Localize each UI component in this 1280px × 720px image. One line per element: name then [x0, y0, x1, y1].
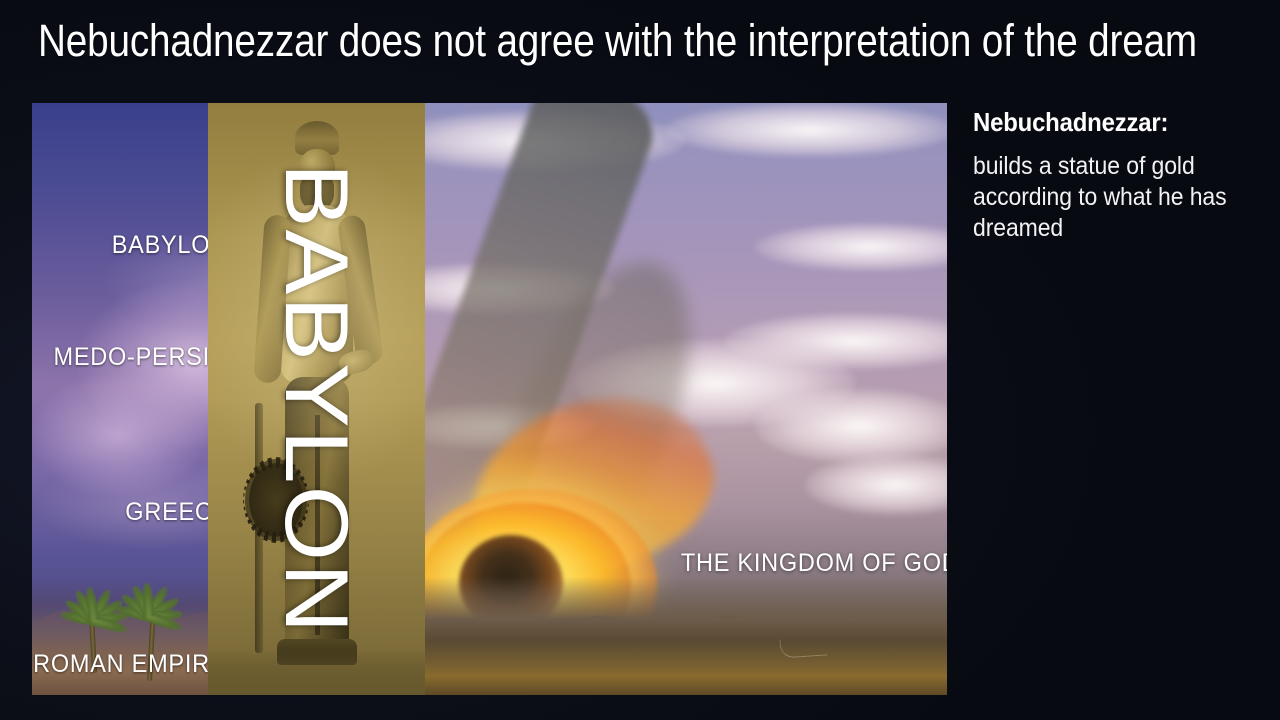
foreground-ground [425, 577, 947, 695]
right-panel-heading: Nebuchadnezzar: [973, 108, 1245, 137]
kingdom-label: ROMAN EMPIRE [33, 650, 226, 679]
artist-signature [779, 636, 827, 658]
cloud-shape [755, 389, 947, 463]
right-text-panel: Nebuchadnezzar: builds a statue of gold … [973, 108, 1269, 244]
right-panel-body: builds a statue of gold according to wha… [973, 151, 1267, 244]
slide-canvas: Nebuchadnezzar does not agree with the i… [0, 0, 1280, 720]
slide-image-composite: BABYLONMEDO-PERSIAGREECEROMAN EMPIREMIXE… [32, 103, 947, 695]
statue-gold-overlay [208, 103, 425, 695]
cloud-shape [805, 455, 947, 515]
meteor-kingdom-image [425, 103, 947, 695]
cloud-shape [665, 103, 947, 157]
page-title: Nebuchadnezzar does not agree with the i… [38, 18, 1070, 63]
kingdom-label: MEDO-PERSIA [54, 343, 227, 372]
cloud-shape [755, 223, 947, 271]
statue-image [208, 103, 425, 695]
kingdom-of-god-label: THE KINGDOM OF GOD [681, 549, 947, 578]
